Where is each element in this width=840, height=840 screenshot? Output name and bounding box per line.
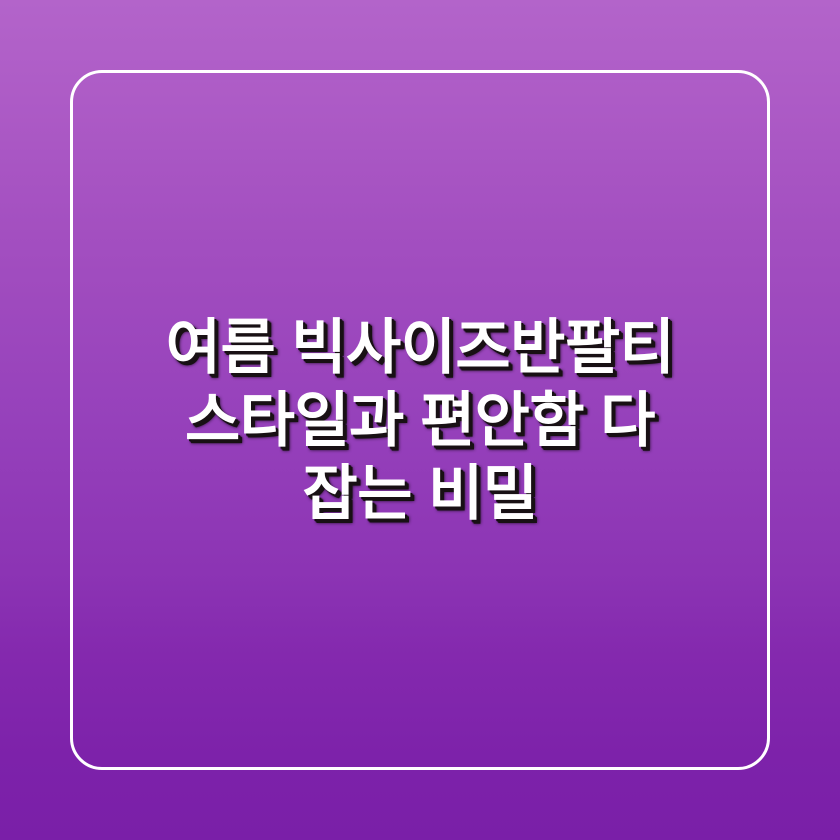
headline-container: 여름 빅사이즈반팔티 스타일과 편안함 다 잡는 비밀 <box>0 0 840 840</box>
thumbnail-card: 여름 빅사이즈반팔티 스타일과 편안함 다 잡는 비밀 <box>0 0 840 840</box>
page-title: 여름 빅사이즈반팔티 스타일과 편안함 다 잡는 비밀 <box>166 311 674 530</box>
